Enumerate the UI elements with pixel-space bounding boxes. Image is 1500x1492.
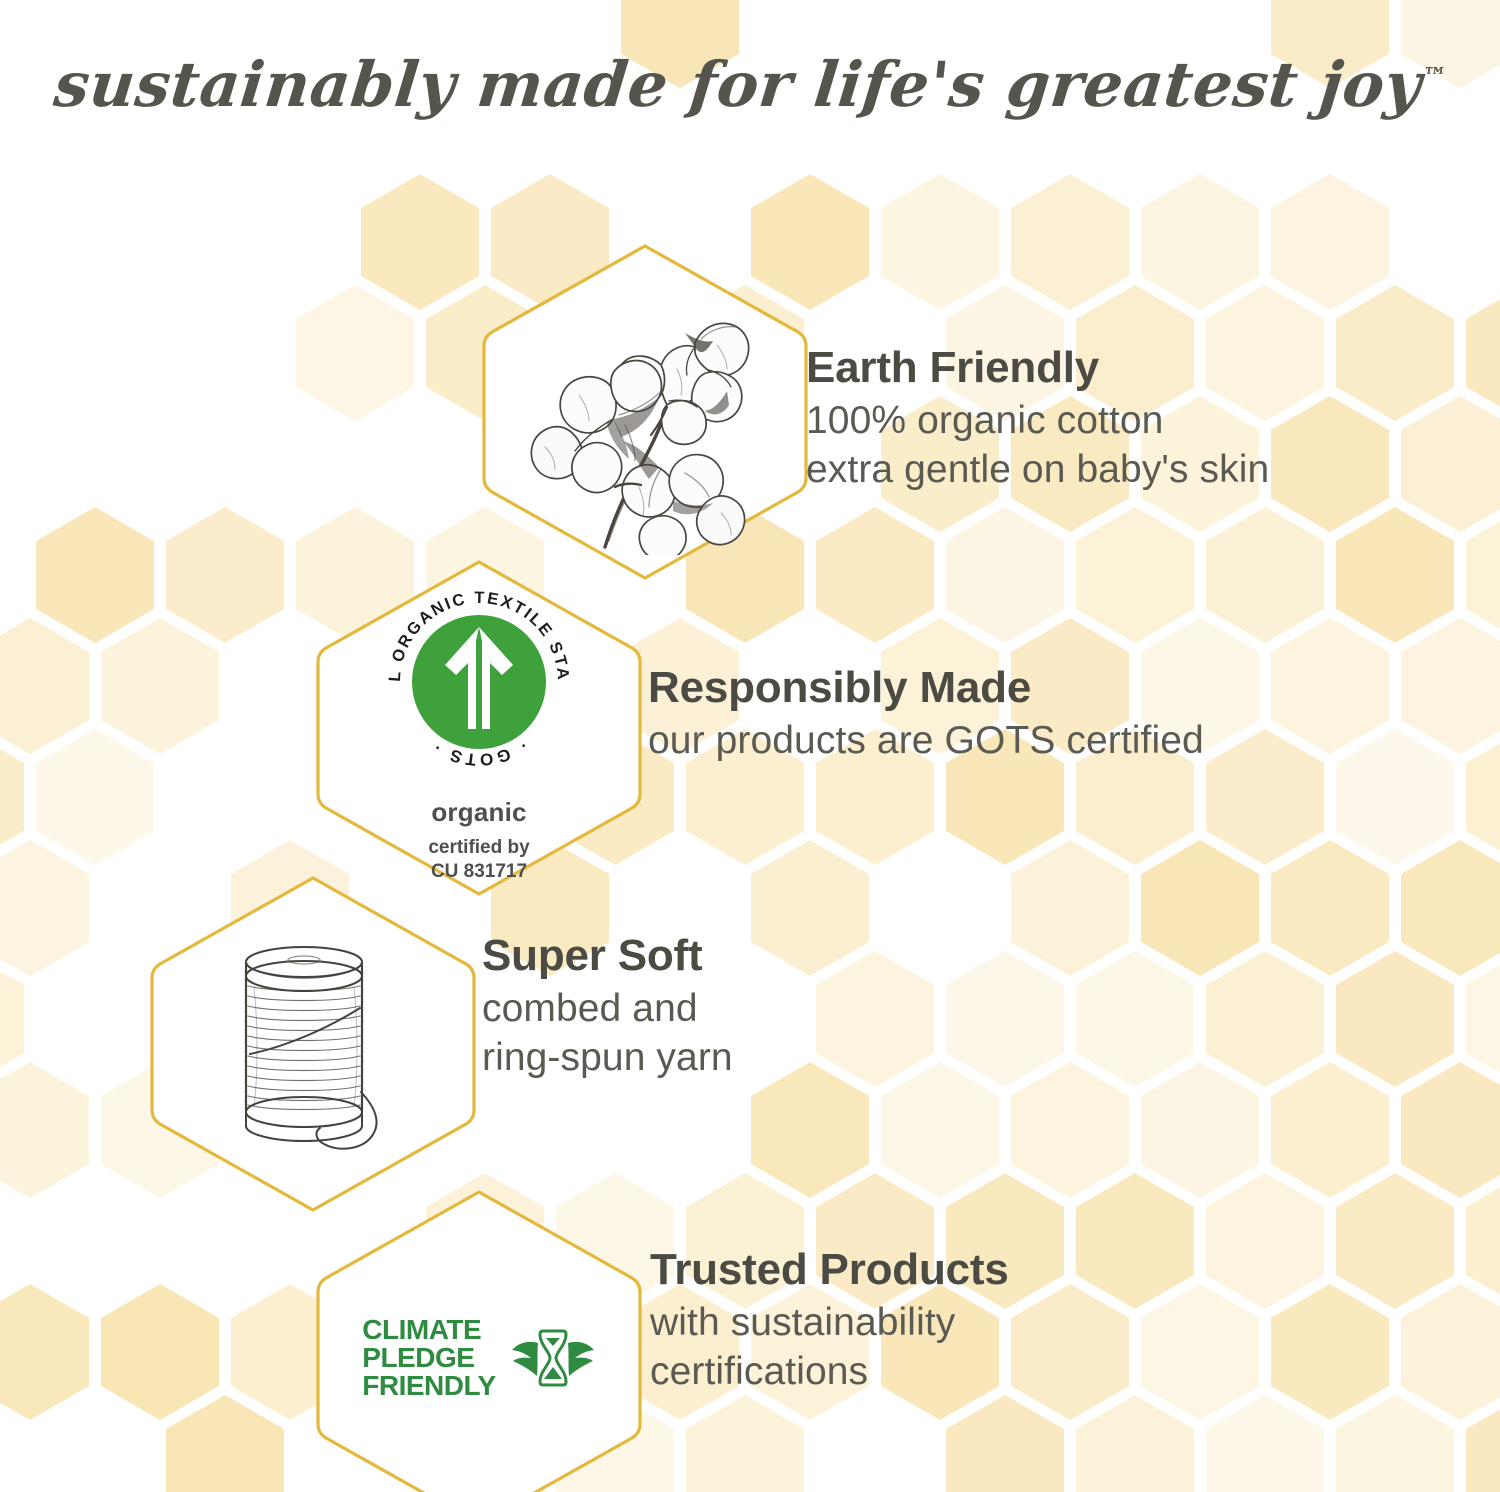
honeycomb-cell [1271, 1062, 1389, 1198]
honeycomb-cell [1336, 507, 1454, 643]
honeycomb-cell [1076, 507, 1194, 643]
honeycomb-cell [1336, 729, 1454, 865]
honeycomb-cell [1141, 1284, 1259, 1420]
honeycomb-cell [816, 507, 934, 643]
honeycomb-cell [1011, 174, 1129, 310]
honeycomb-cell [1141, 1062, 1259, 1198]
feature-trusted-products: Trusted Products with sustainability cer… [650, 1246, 1009, 1397]
honeycomb-cell [1206, 729, 1324, 865]
infographic-canvas: sustainably made for life's greatest joy… [0, 0, 1500, 1492]
honeycomb-cell [1336, 1395, 1454, 1492]
feature-title-responsibly-made: Responsibly Made [648, 664, 1204, 712]
honeycomb-cell [1271, 174, 1389, 310]
climate-pledge-holder: CLIMATE PLEDGE FRIENDLY [312, 1186, 646, 1492]
feature-desc-earth-friendly-line1: 100% organic cotton [806, 396, 1269, 446]
honeycomb-cell [1466, 1395, 1500, 1492]
honeycomb-cell [0, 840, 89, 976]
honeycomb-cell [1466, 729, 1500, 865]
honeycomb-cell [946, 951, 1064, 1087]
honeycomb-cell [0, 618, 89, 754]
honeycomb-cell [1011, 1062, 1129, 1198]
honeycomb-cell [946, 1395, 1064, 1492]
honeycomb-cell [1271, 840, 1389, 976]
honeycomb-cell [881, 174, 999, 310]
feature-title-earth-friendly: Earth Friendly [806, 344, 1269, 392]
climate-pledge-line-2: PLEDGE [362, 1344, 495, 1372]
thread-spool-illustration [188, 914, 438, 1174]
gots-certification-logo: GLOBAL ORGANIC TEXTILE STANDARD · GOTS · [376, 579, 582, 785]
gots-certified-by-text: certified by [428, 837, 529, 858]
honeycomb-cell [166, 507, 284, 643]
honeycomb-cell [1401, 1062, 1500, 1198]
feature-earth-friendly: Earth Friendly 100% organic cotton extra… [806, 344, 1269, 495]
honeycomb-cell [751, 840, 869, 976]
hex-card-gots: GLOBAL ORGANIC TEXTILE STANDARD · GOTS ·… [312, 556, 646, 900]
honeycomb-cell [751, 1062, 869, 1198]
honeycomb-cell [1336, 1173, 1454, 1309]
honeycomb-cell [0, 951, 24, 1087]
honeycomb-cell [1011, 1284, 1129, 1420]
honeycomb-cell [0, 1062, 89, 1198]
honeycomb-cell [1401, 618, 1500, 754]
honeycomb-cell [881, 1062, 999, 1198]
hex-card-cotton [478, 240, 812, 584]
honeycomb-cell [1141, 840, 1259, 976]
honeycomb-cell [361, 174, 479, 310]
page-headline: sustainably made for life's greatest joy… [0, 48, 1500, 121]
spool-illustration-holder [146, 872, 480, 1216]
honeycomb-cell [1206, 1395, 1324, 1492]
honeycomb-cell [36, 507, 154, 643]
honeycomb-cell [1271, 618, 1389, 754]
feature-desc-earth-friendly-line2: extra gentle on baby's skin [806, 445, 1269, 495]
winged-hourglass-icon [510, 1321, 596, 1395]
hex-card-spool [146, 872, 480, 1216]
feature-desc-trusted-products-line1: with sustainability [650, 1298, 1009, 1348]
honeycomb-cell [1401, 396, 1500, 532]
headline-text: sustainably made for life's greatest joy [51, 48, 1425, 121]
honeycomb-cell [1076, 1173, 1194, 1309]
gots-organic-label: organic [431, 797, 526, 828]
honeycomb-cell [101, 618, 219, 754]
honeycomb-cell [1206, 951, 1324, 1087]
honeycomb-cell [1466, 951, 1500, 1087]
honeycomb-cell [1206, 1173, 1324, 1309]
gots-badge-holder: GLOBAL ORGANIC TEXTILE STANDARD · GOTS ·… [312, 556, 646, 900]
honeycomb-cell [1271, 1284, 1389, 1420]
feature-desc-trusted-products-line2: certifications [650, 1347, 1009, 1397]
climate-pledge-wordmark: CLIMATE PLEDGE FRIENDLY [362, 1316, 495, 1400]
honeycomb-cell [1336, 285, 1454, 421]
honeycomb-cell [1336, 951, 1454, 1087]
honeycomb-cell [296, 285, 414, 421]
honeycomb-cell [1466, 1173, 1500, 1309]
honeycomb-cell [1466, 285, 1500, 421]
honeycomb-cell [1271, 396, 1389, 532]
honeycomb-cell [0, 729, 24, 865]
honeycomb-cell [1466, 507, 1500, 643]
hex-card-climate-pledge: CLIMATE PLEDGE FRIENDLY [312, 1186, 646, 1492]
feature-desc-super-soft-line1: combed and [482, 984, 733, 1034]
honeycomb-cell [1401, 840, 1500, 976]
honeycomb-cell [0, 1284, 89, 1420]
honeycomb-cell [1011, 840, 1129, 976]
feature-title-trusted-products: Trusted Products [650, 1246, 1009, 1294]
cotton-illustration-holder [478, 240, 812, 584]
climate-pledge-line-3: FRIENDLY [362, 1372, 495, 1400]
honeycomb-cell [1206, 507, 1324, 643]
feature-title-super-soft: Super Soft [482, 932, 733, 980]
honeycomb-cell [1076, 951, 1194, 1087]
honeycomb-cell [1401, 1284, 1500, 1420]
honeycomb-cell [1076, 1395, 1194, 1492]
feature-super-soft: Super Soft combed and ring-spun yarn [482, 932, 733, 1083]
honeycomb-cell [1141, 174, 1259, 310]
honeycomb-cell [101, 1284, 219, 1420]
honeycomb-cell [36, 729, 154, 865]
honeycomb-cell [166, 1395, 284, 1492]
feature-desc-responsibly-made-line1: our products are GOTS certified [648, 716, 1204, 766]
cotton-plant-illustration [509, 269, 781, 555]
honeycomb-cell [686, 1395, 804, 1492]
feature-responsibly-made: Responsibly Made our products are GOTS c… [648, 664, 1204, 765]
honeycomb-cell [946, 507, 1064, 643]
feature-desc-super-soft-line2: ring-spun yarn [482, 1033, 733, 1083]
honeycomb-cell [816, 951, 934, 1087]
climate-pledge-line-1: CLIMATE [362, 1316, 495, 1344]
trademark-symbol: ™ [1421, 61, 1448, 90]
